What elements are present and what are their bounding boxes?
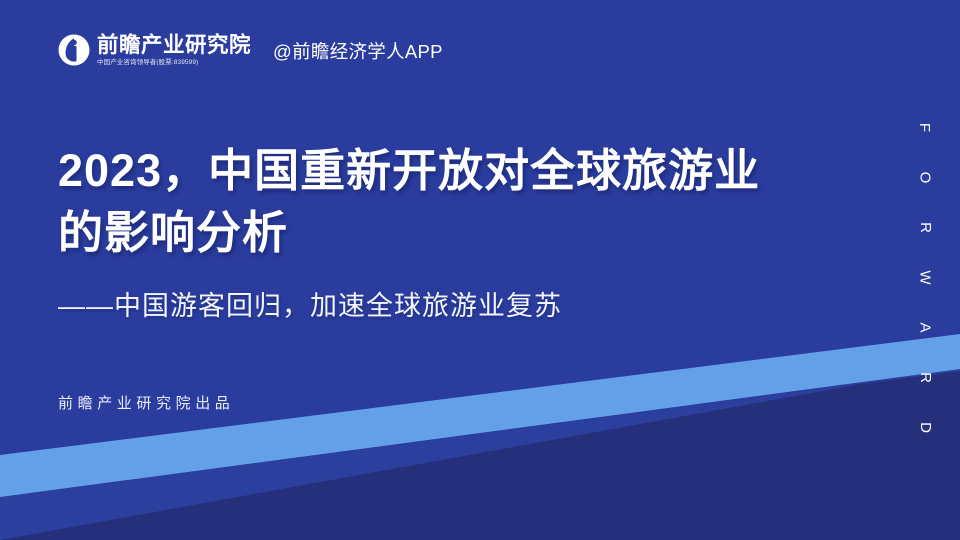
vertical-letter: R (918, 372, 933, 383)
brand-name: 前瞻产业研究院 (97, 33, 251, 58)
vertical-letter: R (918, 222, 933, 233)
publisher-label: 前瞻产业研究院出品 (58, 394, 234, 414)
title-block: 2023，中国重新开放对全球旅游业的影响分析 ——中国游客回归，加速全球旅游业复… (58, 140, 818, 324)
circle-person-logo-icon (58, 34, 90, 66)
mid-blue-wedge (0, 366, 960, 540)
app-handle[interactable]: @前瞻经济学人APP (273, 41, 443, 63)
vertical-letter: F (917, 123, 932, 132)
light-blue-band (0, 334, 960, 497)
vertical-forward-text: F O R W A R D (912, 120, 938, 435)
dark-navy-wedge (0, 366, 960, 540)
vertical-letter: O (917, 172, 932, 184)
brand-header: 前瞻产业研究院 中国产业咨询领导者(股票:839599) @前瞻经济学人APP (58, 33, 443, 68)
brand-logo[interactable]: 前瞻产业研究院 中国产业咨询领导者(股票:839599) (58, 33, 251, 68)
vertical-letter: A (917, 322, 932, 332)
page-subtitle: ——中国游客回归，加速全球旅游业复苏 (58, 288, 818, 324)
vertical-letter: W (917, 270, 932, 284)
vertical-letter: D (918, 422, 933, 433)
brand-tagline: 中国产业咨询领导者(股票:839599) (97, 58, 251, 68)
page-title: 2023，中国重新开放对全球旅游业的影响分析 (58, 140, 798, 264)
presentation-slide: 前瞻产业研究院 中国产业咨询领导者(股票:839599) @前瞻经济学人APP … (0, 0, 960, 540)
